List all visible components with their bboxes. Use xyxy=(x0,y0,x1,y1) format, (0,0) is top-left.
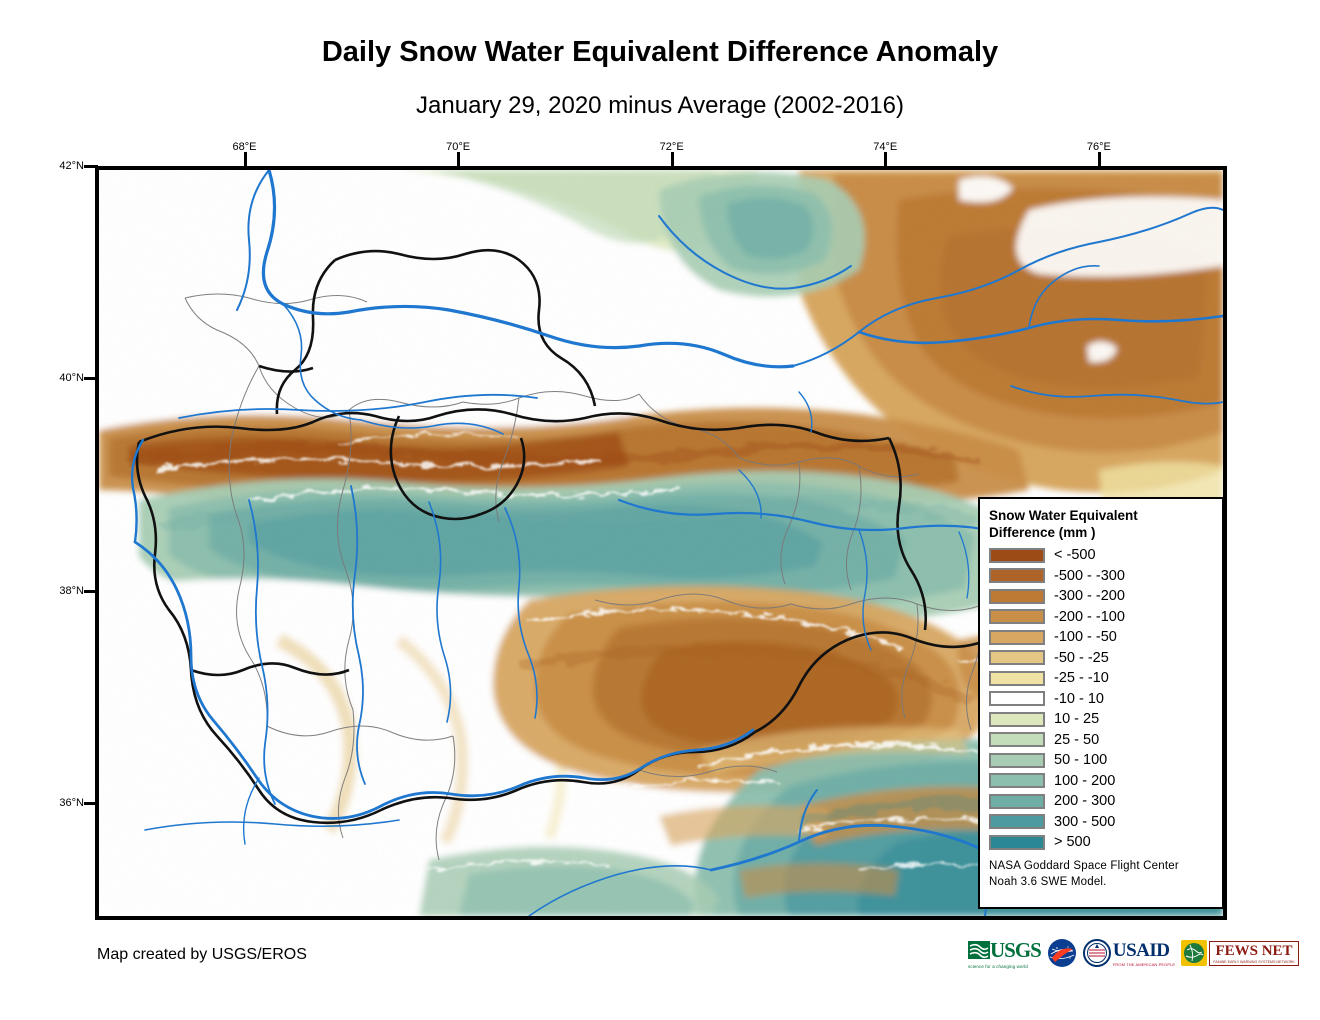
usgs-logo-tagline: science for a changing world xyxy=(968,964,1041,969)
legend-title: Snow Water Equivalent Difference (mm ) xyxy=(989,508,1214,542)
fewsnet-logo-tagline: FAMINE EARLY WARNING SYSTEMS NETWORK xyxy=(1213,960,1295,964)
legend-row: -500 - -300 xyxy=(989,565,1214,586)
legend-label: -10 - 10 xyxy=(1054,691,1104,707)
lat-tick-label: 38°N xyxy=(40,585,84,597)
lon-tick-mark xyxy=(457,152,460,166)
legend-label: 300 - 500 xyxy=(1054,814,1115,830)
legend-label: -200 - -100 xyxy=(1054,609,1125,625)
legend-swatch xyxy=(989,548,1045,563)
lat-tick-label: 42°N xyxy=(40,160,84,172)
lon-tick-mark xyxy=(671,152,674,166)
legend-source-line2: Noah 3.6 SWE Model. xyxy=(989,875,1214,891)
legend-swatch xyxy=(989,671,1045,686)
usaid-seal-icon xyxy=(1083,939,1111,967)
fewsnet-globe-icon xyxy=(1181,940,1207,966)
legend-swatch xyxy=(989,568,1045,583)
legend-label: -100 - -50 xyxy=(1054,629,1117,645)
legend-swatch xyxy=(989,589,1045,604)
legend-label: -500 - -300 xyxy=(1054,568,1125,584)
legend-row: 300 - 500 xyxy=(989,811,1214,832)
legend-swatch xyxy=(989,650,1045,665)
legend-row: < -500 xyxy=(989,545,1214,566)
legend-label: 100 - 200 xyxy=(1054,773,1115,789)
lat-tick-label: 36°N xyxy=(40,797,84,809)
lon-tick-mark xyxy=(244,152,247,166)
lat-tick-label: 40°N xyxy=(40,372,84,384)
usaid-logo[interactable]: USAID FROM THE AMERICAN PEOPLE xyxy=(1083,936,1175,970)
legend-swatch xyxy=(989,691,1045,706)
legend-row: -50 - -25 xyxy=(989,647,1214,668)
legend-title-line2: Difference (mm ) xyxy=(989,525,1214,542)
legend-swatch xyxy=(989,630,1045,645)
map-figure: 68°E70°E72°E74°E76°E42°N40°N38°N36°N xyxy=(0,0,1320,1020)
legend-row: > 500 xyxy=(989,832,1214,853)
legend-row: -300 - -200 xyxy=(989,586,1214,607)
usaid-logo-text: USAID xyxy=(1113,940,1175,962)
legend-label: 200 - 300 xyxy=(1054,793,1115,809)
legend-row: 25 - 50 xyxy=(989,729,1214,750)
legend-label: < -500 xyxy=(1054,547,1096,563)
legend-label: -50 - -25 xyxy=(1054,650,1109,666)
legend-label: > 500 xyxy=(1054,834,1091,850)
legend-swatch xyxy=(989,835,1045,850)
legend-swatch xyxy=(989,712,1045,727)
usgs-logo-text: USGS xyxy=(990,938,1041,963)
legend-swatch xyxy=(989,814,1045,829)
legend-swatch xyxy=(989,753,1045,768)
legend-class-list: < -500-500 - -300-300 - -200-200 - -100-… xyxy=(989,545,1214,853)
map-legend: Snow Water Equivalent Difference (mm ) <… xyxy=(978,497,1224,909)
usgs-wave-icon xyxy=(968,941,990,959)
legend-label: 10 - 25 xyxy=(1054,711,1099,727)
legend-row: -100 - -50 xyxy=(989,627,1214,648)
lon-tick-mark xyxy=(884,152,887,166)
legend-source-note: NASA Goddard Space Flight Center Noah 3.… xyxy=(989,859,1214,890)
legend-swatch xyxy=(989,732,1045,747)
legend-label: 25 - 50 xyxy=(1054,732,1099,748)
legend-title-line1: Snow Water Equivalent xyxy=(989,508,1214,525)
fewsnet-logo-text: FEWS NET xyxy=(1215,943,1292,960)
legend-label: 50 - 100 xyxy=(1054,752,1107,768)
nasa-logo[interactable] xyxy=(1047,936,1077,970)
legend-row: -200 - -100 xyxy=(989,606,1214,627)
legend-row: 200 - 300 xyxy=(989,791,1214,812)
usaid-logo-tagline: FROM THE AMERICAN PEOPLE xyxy=(1113,962,1175,967)
legend-swatch xyxy=(989,794,1045,809)
legend-label: -300 - -200 xyxy=(1054,588,1125,604)
logo-strip: USGS science for a changing world USAID … xyxy=(968,934,1299,972)
legend-swatch xyxy=(989,773,1045,788)
legend-row: -25 - -10 xyxy=(989,668,1214,689)
legend-source-line1: NASA Goddard Space Flight Center xyxy=(989,859,1214,875)
usgs-logo[interactable]: USGS science for a changing world xyxy=(968,936,1041,970)
fewsnet-logo[interactable]: FEWS NET FAMINE EARLY WARNING SYSTEMS NE… xyxy=(1181,936,1299,970)
legend-swatch xyxy=(989,609,1045,624)
legend-label: -25 - -10 xyxy=(1054,670,1109,686)
map-credit: Map created by USGS/EROS xyxy=(97,946,307,964)
legend-row: 100 - 200 xyxy=(989,770,1214,791)
legend-row: 50 - 100 xyxy=(989,750,1214,771)
lon-tick-mark xyxy=(1098,152,1101,166)
nasa-meatball-icon xyxy=(1047,938,1077,968)
legend-row: 10 - 25 xyxy=(989,709,1214,730)
legend-row: -10 - 10 xyxy=(989,688,1214,709)
